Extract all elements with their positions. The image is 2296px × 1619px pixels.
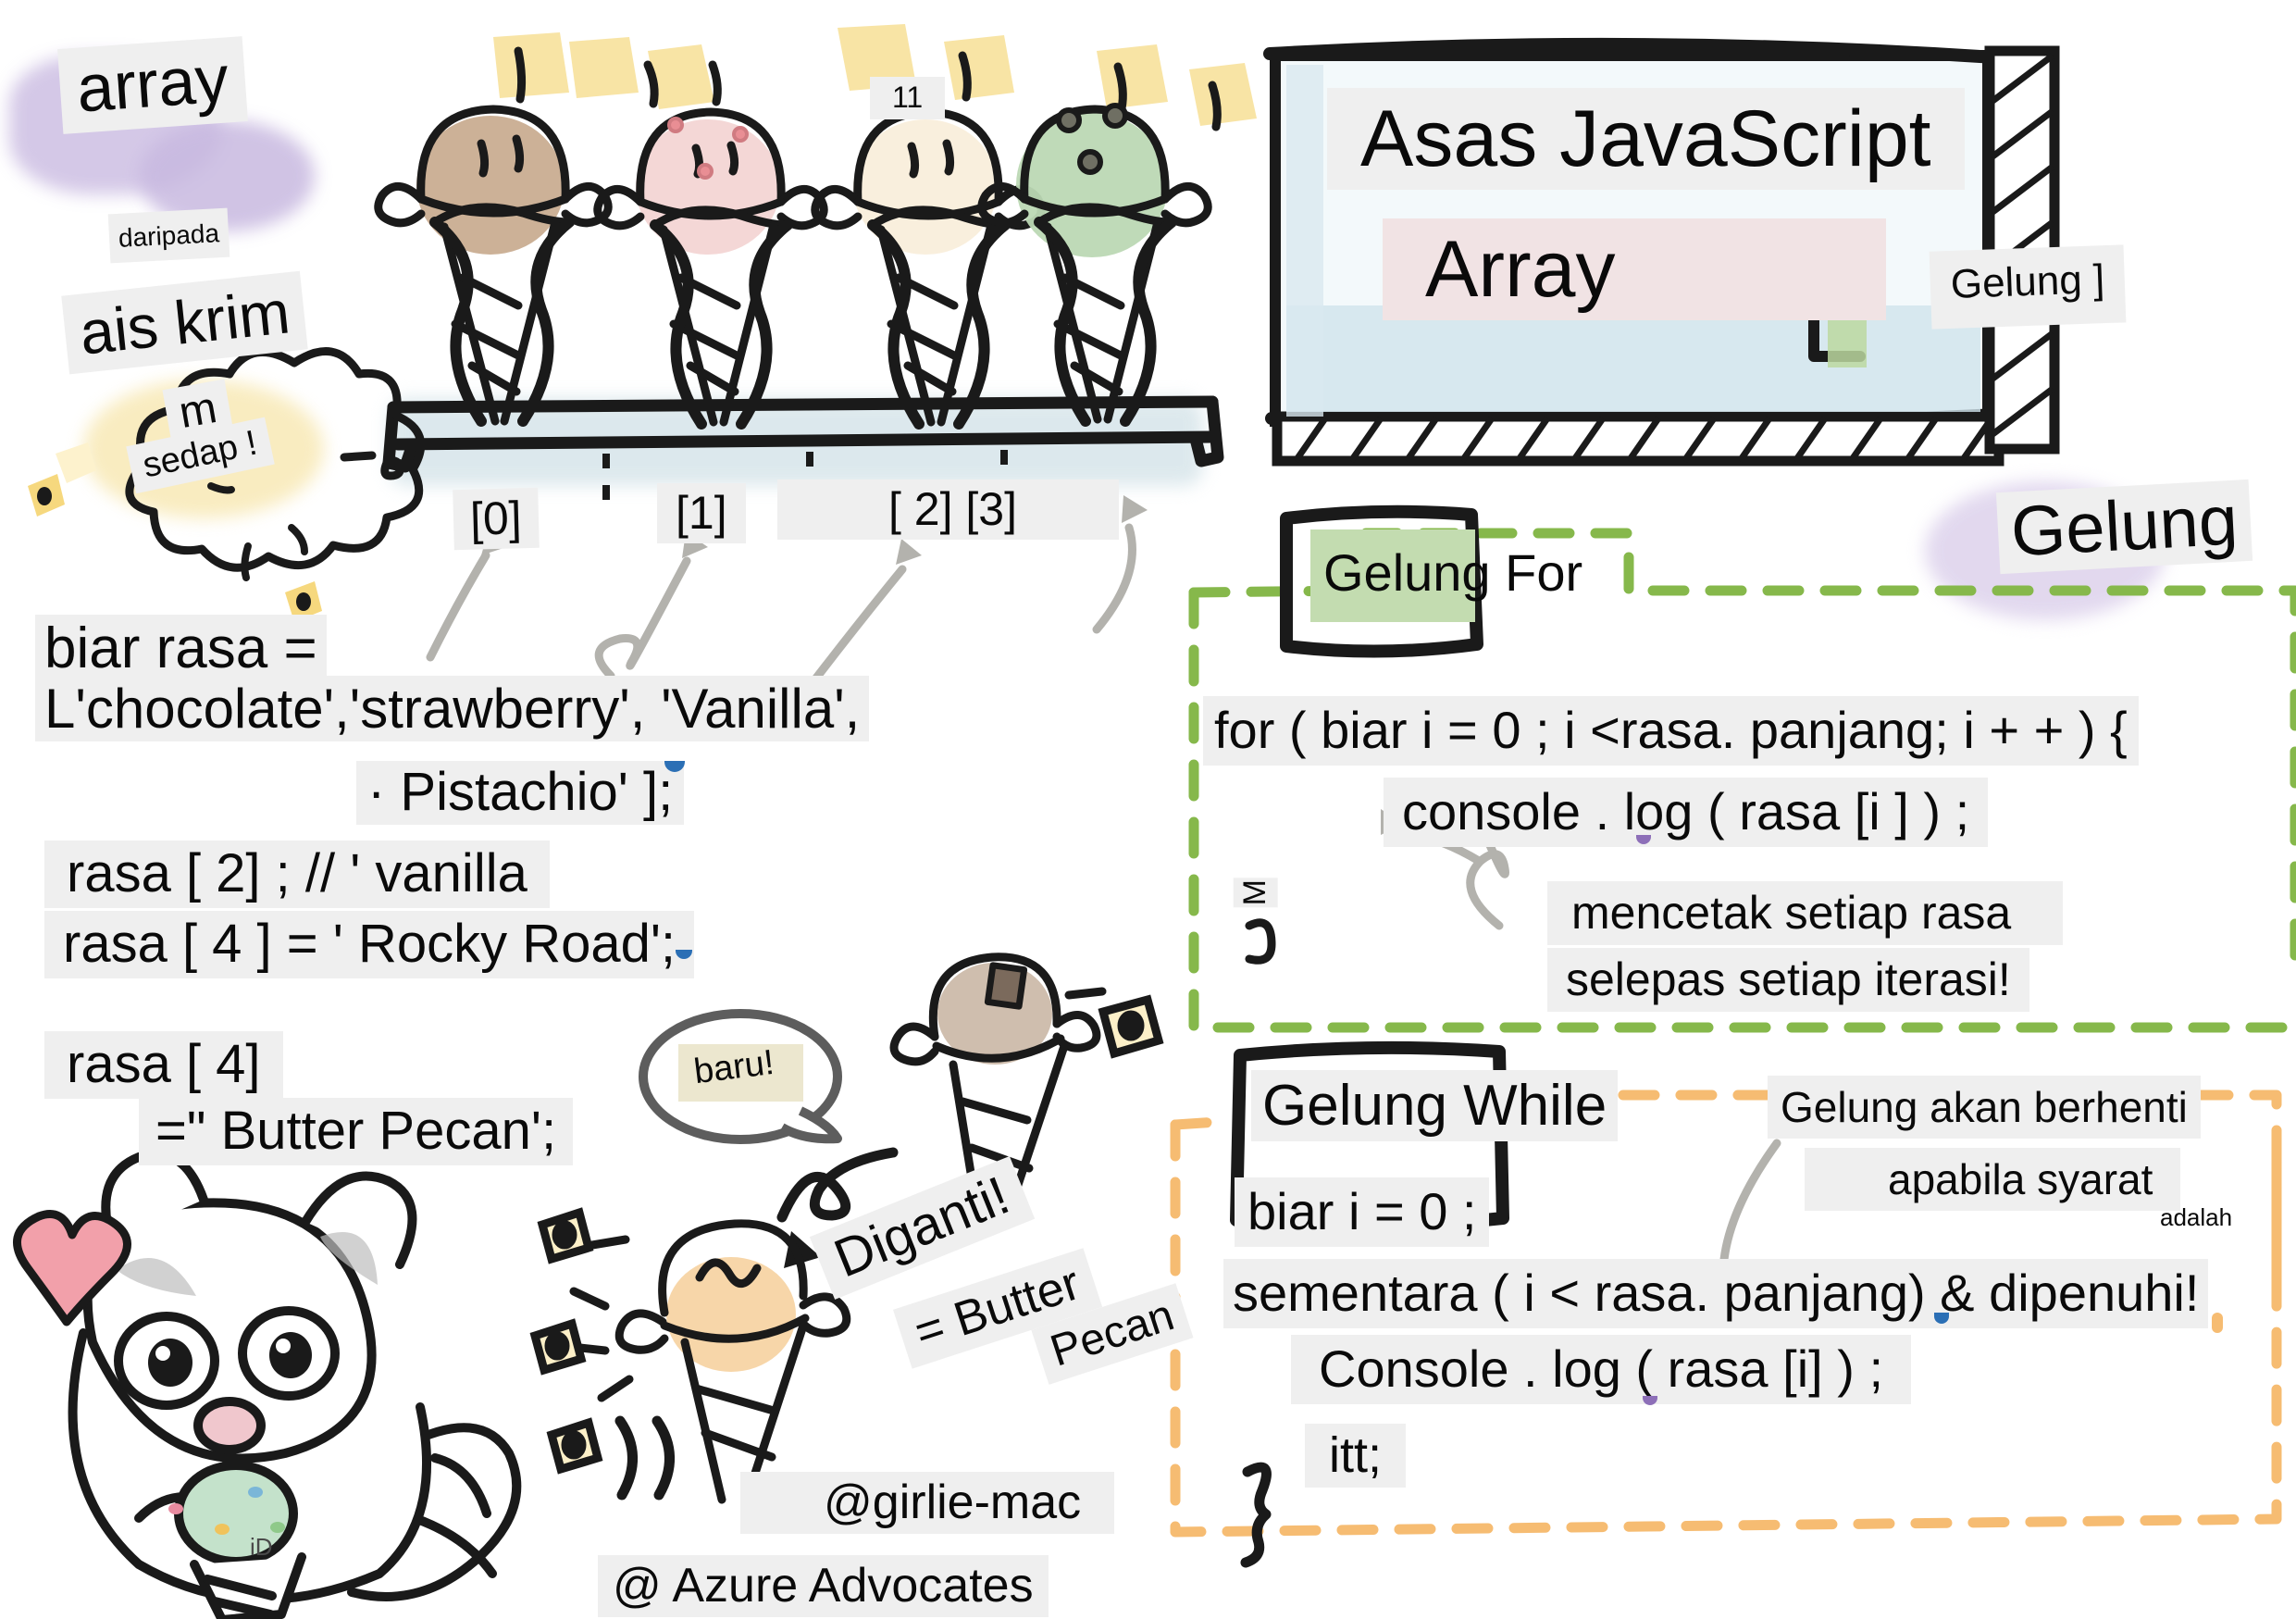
while-loop-heading: Gelung While: [1251, 1070, 1618, 1141]
while-loop-note-line1: Gelung akan berhenti: [1768, 1076, 2201, 1139]
code-line-pistachio: · Pistachio' ];: [356, 761, 684, 825]
code-line-index4: rasa [ 4]: [44, 1031, 283, 1099]
while-brace-glyph: [1246, 1467, 1266, 1563]
ice-cream-cone-pistachio: [982, 106, 1208, 421]
banner-bracket-label: Gelung ]: [1930, 244, 2127, 329]
label-array: array: [57, 36, 248, 133]
raccoon-character: [73, 1154, 517, 1619]
banner-title-line1: Asas JavaScript: [1327, 88, 1965, 190]
code-line-array-values: L'chocolate','strawberry', 'Vanilla',: [35, 676, 869, 741]
credit-org: @ Azure Advocates: [598, 1555, 1049, 1617]
code-line-read-index2: rasa [ 2] ; // ' vanilla: [44, 841, 550, 908]
index-label-0: [0]: [453, 488, 539, 550]
index-label-2-3: [ 2] [3]: [777, 479, 1119, 540]
label-tape-number: 11: [870, 77, 945, 119]
label-daripada: daripada: [108, 208, 230, 264]
while-loop-code-line1: biar i = 0 ;: [1235, 1177, 1489, 1247]
for-loop-note-line2: selepas setiap iterasi!: [1547, 948, 2029, 1012]
for-loop-note-line1: mencetak setiap rasa: [1547, 881, 2063, 945]
while-loop-note-line3: adalah: [2156, 1203, 2236, 1232]
ice-cream-cone-vanilla: [815, 112, 1041, 424]
for-loop-code-line2: console . log ( rasa [i ] ) ;: [1384, 778, 1988, 847]
while-loop-code-line2: sementara ( i < rasa. panjang) & dipenuh…: [1223, 1259, 2208, 1328]
ice-cream-cone-chocolate: [379, 109, 608, 421]
for-brace-glyph: [1249, 923, 1272, 961]
ice-cream-cone-strawberry: [598, 112, 824, 424]
index-label-1: [1]: [657, 483, 746, 543]
section-title-gelung: Gelung: [1996, 479, 2253, 574]
for-loop-code-line1: for ( biar i = 0 ; i <rasa. panjang; i +…: [1203, 696, 2139, 766]
sketchnote-canvas: iD array daripada ais krim m sedap ! 11 …: [0, 0, 2296, 1619]
for-loop-brace-label: M: [1234, 878, 1278, 907]
cone-butter-pecan: [619, 1224, 847, 1501]
quote-marks-glyph: [620, 1421, 670, 1495]
banner-title-line2: Array: [1383, 218, 1886, 320]
while-loop-note-line2: apabila syarat: [1805, 1148, 2180, 1211]
while-loop-code-line3: Console . log ( rasa [i] ) ;: [1291, 1335, 1911, 1404]
raccoon-signature: iD: [250, 1533, 273, 1561]
for-loop-heading: Gelung For: [1318, 544, 1588, 603]
code-line-assign-rocky-road: rasa [ 4 ] = ' Rocky Road';: [44, 911, 694, 978]
code-line-declaration: biar rasa =: [35, 615, 327, 682]
accent-dot-orange-1: [2212, 1313, 2223, 1333]
credit-handle: @girlie-mac: [740, 1472, 1114, 1534]
while-loop-code-line4: itt;: [1305, 1424, 1406, 1488]
code-line-butter-pecan: =" Butter Pecan';: [139, 1098, 573, 1165]
